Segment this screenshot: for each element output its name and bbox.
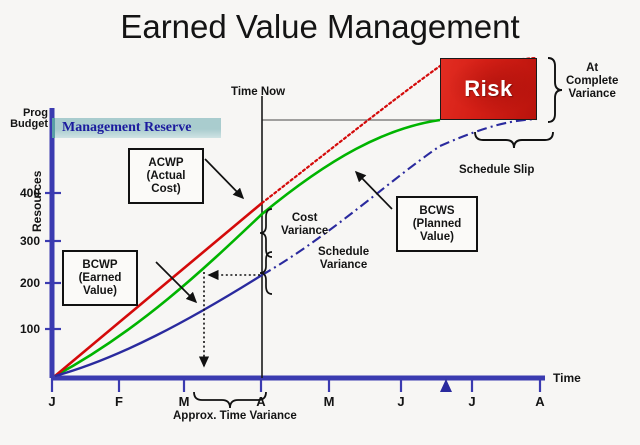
- schedule-variance-label: Schedule Variance: [318, 246, 369, 272]
- schedule-variance-line1: Schedule: [318, 246, 369, 259]
- x-tick-f: F: [109, 394, 129, 409]
- x-tick-j1: J: [42, 394, 62, 409]
- at-complete-variance-line2: Complete: [566, 75, 618, 88]
- risk-label: Risk: [464, 76, 512, 102]
- evm-chart-canvas: Earned Value Management Prog Budget Reso…: [0, 0, 640, 445]
- callout-bcws-line1: BCWS: [413, 205, 462, 218]
- schedule-slip-label: Schedule Slip: [459, 164, 534, 177]
- at-complete-variance-brace: [548, 58, 562, 122]
- time-variance-indicator: [204, 272, 260, 366]
- callout-bcwp: BCWP (Earned Value): [62, 250, 138, 306]
- x-tick-a1: A: [251, 394, 271, 409]
- callout-bcws-line2: (Planned: [413, 218, 462, 231]
- callout-bcwp-line1: BCWP: [79, 259, 122, 272]
- prog-budget-line2: Budget: [6, 119, 48, 130]
- cost-variance-line2: Variance: [281, 225, 328, 238]
- x-axis-title: Time: [553, 371, 581, 385]
- y-tick-300: 300: [8, 234, 40, 248]
- callout-acwp-line1: ACWP: [147, 157, 186, 170]
- callout-acwp-line2: (Actual: [147, 170, 186, 183]
- schedule-slip-brace: [475, 132, 553, 148]
- y-tick-400: 400: [8, 186, 40, 200]
- callout-acwp: ACWP (Actual Cost): [128, 148, 204, 204]
- cost-variance-label: Cost Variance: [281, 212, 328, 238]
- risk-box: Risk: [440, 58, 537, 120]
- approx-time-variance-label: Approx. Time Variance: [173, 410, 297, 423]
- at-complete-variance-label: At Complete Variance: [566, 62, 618, 101]
- x-tick-j3: J: [462, 394, 482, 409]
- prog-budget-label: Prog Budget: [6, 108, 48, 130]
- callout-bcws: BCWS (Planned Value): [396, 196, 478, 252]
- current-date-triangle-icon: [440, 379, 452, 392]
- x-tick-m2: M: [319, 394, 339, 409]
- y-tick-200: 200: [8, 276, 40, 290]
- page-title: Earned Value Management: [0, 8, 640, 46]
- y-axis-title: Resources: [30, 171, 44, 232]
- schedule-variance-line2: Variance: [318, 259, 369, 272]
- at-complete-variance-line3: Variance: [566, 88, 618, 101]
- y-tick-100: 100: [8, 322, 40, 336]
- at-complete-variance-line1: At: [566, 62, 618, 75]
- x-tick-m1: M: [174, 394, 194, 409]
- x-tick-a2: A: [530, 394, 550, 409]
- callout-bcws-line3: Value): [413, 231, 462, 244]
- callout-acwp-line3: Cost): [147, 183, 186, 196]
- callout-bcwp-line3: Value): [79, 285, 122, 298]
- callout-bcwp-line2: (Earned: [79, 272, 122, 285]
- management-reserve-label: Management Reserve: [62, 120, 191, 136]
- cost-variance-line1: Cost: [281, 212, 328, 225]
- time-now-label: Time Now: [231, 86, 285, 98]
- bcws-planned-value-curve: [55, 120, 440, 376]
- x-tick-j2: J: [391, 394, 411, 409]
